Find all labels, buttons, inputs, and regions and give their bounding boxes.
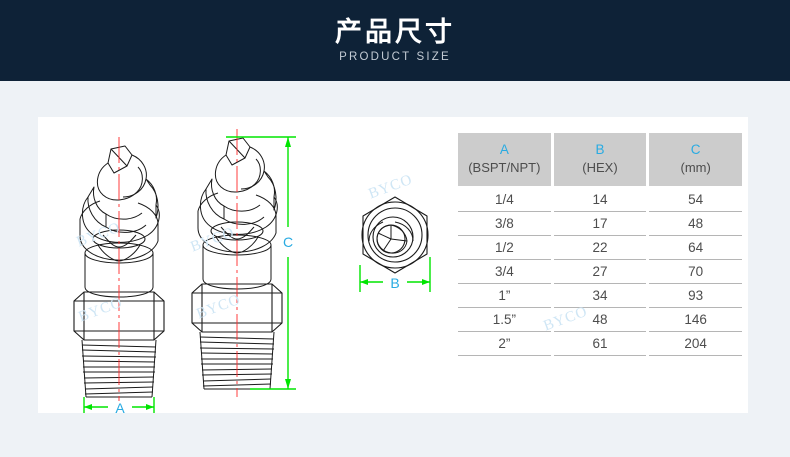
- table-cell-a: 1/4: [458, 186, 551, 212]
- table-cell-a: 1/2: [458, 236, 551, 260]
- table-cell-b: 27: [554, 260, 647, 284]
- table-cell-b: 61: [554, 332, 647, 356]
- table-cell-c: 48: [649, 212, 742, 236]
- content-card: A B C BYCO BYCO BYCO BYCO BYCO A (BSPT/N…: [38, 117, 748, 413]
- column-unit-a: (BSPT/NPT): [460, 159, 549, 177]
- column-header-a: A (BSPT/NPT): [458, 133, 551, 186]
- table-row: 3/42770: [458, 260, 742, 284]
- dimension-label-b: B: [390, 275, 399, 291]
- table-cell-b: 14: [554, 186, 647, 212]
- column-header-c: C (mm): [649, 133, 742, 186]
- table-row: 1/22264: [458, 236, 742, 260]
- table-cell-b: 17: [554, 212, 647, 236]
- nozzle-view-right: [192, 129, 282, 397]
- table-row: 1/41454: [458, 186, 742, 212]
- table-cell-b: 22: [554, 236, 647, 260]
- dimension-label-a: A: [115, 400, 125, 413]
- column-letter-a: A: [460, 141, 549, 159]
- page-title: 产品尺寸: [335, 17, 455, 48]
- table-cell-c: 146: [649, 308, 742, 332]
- spec-table-body: 1/414543/817481/222643/427701”34931.5”48…: [458, 186, 742, 356]
- table-row: 1.5”48146: [458, 308, 742, 332]
- nozzle-view-left: [74, 137, 164, 401]
- column-unit-b: (HEX): [556, 159, 645, 177]
- table-cell-b: 34: [554, 284, 647, 308]
- table-row: 1”3493: [458, 284, 742, 308]
- product-drawing-area: A B C BYCO BYCO BYCO BYCO BYCO: [38, 117, 453, 413]
- table-cell-b: 48: [554, 308, 647, 332]
- table-cell-c: 54: [649, 186, 742, 212]
- table-cell-c: 204: [649, 332, 742, 356]
- spec-table: A (BSPT/NPT) B (HEX) C (mm) 1/414543/817…: [455, 133, 745, 356]
- column-letter-b: B: [556, 141, 645, 159]
- table-cell-a: 1.5”: [458, 308, 551, 332]
- table-cell-c: 64: [649, 236, 742, 260]
- column-unit-c: (mm): [651, 159, 740, 177]
- table-cell-c: 70: [649, 260, 742, 284]
- table-row: 3/81748: [458, 212, 742, 236]
- table-row: 2”61204: [458, 332, 742, 356]
- spec-table-head: A (BSPT/NPT) B (HEX) C (mm): [458, 133, 742, 186]
- page-header: 产品尺寸 PRODUCT SIZE: [0, 0, 790, 81]
- table-cell-a: 1”: [458, 284, 551, 308]
- column-header-b: B (HEX): [554, 133, 647, 186]
- table-cell-a: 3/8: [458, 212, 551, 236]
- table-cell-c: 93: [649, 284, 742, 308]
- table-header-row: A (BSPT/NPT) B (HEX) C (mm): [458, 133, 742, 186]
- column-letter-c: C: [651, 141, 740, 159]
- dimension-label-c: C: [283, 234, 293, 250]
- table-cell-a: 3/4: [458, 260, 551, 284]
- dimension-c: [226, 137, 296, 389]
- spec-table-container: A (BSPT/NPT) B (HEX) C (mm) 1/414543/817…: [455, 133, 745, 356]
- table-cell-a: 2”: [458, 332, 551, 356]
- technical-drawing-svg: A B C: [38, 117, 453, 413]
- page-subtitle: PRODUCT SIZE: [339, 52, 451, 64]
